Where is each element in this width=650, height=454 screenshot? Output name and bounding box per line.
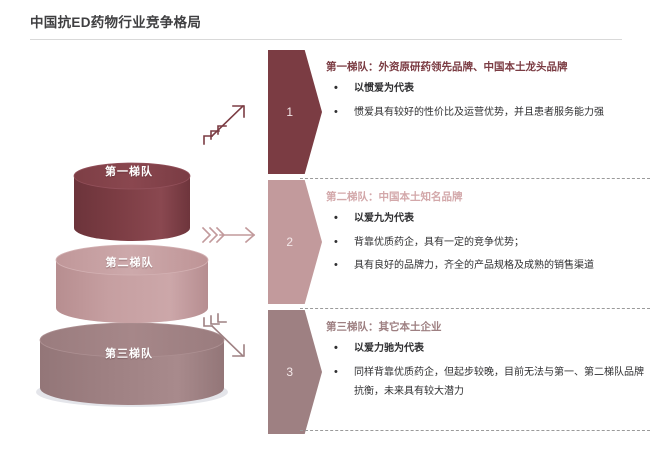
tier-badge-2[interactable]: 2 — [268, 180, 322, 304]
tier-heading-2: 第二梯队：中国本土知名品牌 — [326, 178, 650, 205]
tier-content-3: 第三梯队：其它本土企业 以爱力驰为代表 同样背靠优质药企，但起步较晚，目前无法与… — [326, 308, 650, 402]
slide-canvas: 中国抗ED药物行业竞争格局 — [0, 0, 650, 454]
tier-bullet-item: 以爱九为代表 — [326, 209, 650, 229]
tier-content-2: 第二梯队：中国本土知名品牌 以爱九为代表 背靠优质药企，具有一定的竞争优势； 具… — [326, 178, 650, 276]
tier-bullet-text: 背靠优质药企，具有一定的竞争优势； — [354, 233, 650, 253]
tier-badge-number-1: 1 — [286, 105, 293, 119]
tier-badge-1[interactable]: 1 — [268, 50, 322, 174]
tier-row-2: 2 第二梯队：中国本土知名品牌 以爱九为代表 背靠优质药企，具有一定的竞争优势；… — [268, 178, 650, 308]
tier-bullet-text: 具有良好的品牌力，齐全的产品规格及成熟的销售渠道 — [354, 256, 650, 276]
page-title-container: 中国抗ED药物行业竞争格局 — [30, 14, 620, 32]
tier-bullet-text: 惯爱具有较好的性价比及运营优势，并且患者服务能力强 — [354, 103, 650, 123]
tier-bullet-text: 以爱力驰为代表 — [354, 339, 650, 359]
tier-badge-number-3: 3 — [286, 365, 293, 379]
tier-row-1: 1 第一梯队：外资原研药领先品牌、中国本土龙头品牌 以惯爱为代表 惯爱具有较好的… — [268, 48, 650, 178]
tier-heading-3: 第三梯队：其它本土企业 — [326, 308, 650, 335]
arrow-up-right-icon — [198, 98, 258, 153]
tier-bullet-item: 具有良好的品牌力，齐全的产品规格及成熟的销售渠道 — [326, 256, 650, 276]
title-divider — [30, 39, 622, 40]
tier-row-3: 3 第三梯队：其它本土企业 以爱力驰为代表 同样背靠优质药企，但起步较晚，目前无… — [268, 308, 650, 438]
cake-label-tier-3: 第三梯队 — [44, 345, 214, 361]
tier-bullet-text: 同样背靠优质药企，但起步较晚，目前无法与第一、第二梯队品牌抗衡，未来具有较大潜力 — [354, 363, 650, 402]
cake-layer-3 — [40, 323, 224, 405]
tier-divider-3 — [300, 430, 650, 431]
tier-divider-2 — [300, 308, 650, 309]
cake-label-tier-1: 第一梯队 — [74, 163, 184, 179]
tier-bullet-list-1: 以惯爱为代表 惯爱具有较好的性价比及运营优势，并且患者服务能力强 — [326, 79, 650, 122]
tier-badge-3[interactable]: 3 — [268, 310, 322, 434]
tier-badge-number-2: 2 — [286, 235, 293, 249]
arrow-down-right-icon — [198, 312, 258, 373]
tier-bullet-item: 以爱力驰为代表 — [326, 339, 650, 359]
tier-heading-1: 第一梯队：外资原研药领先品牌、中国本土龙头品牌 — [326, 48, 650, 75]
tier-bullet-list-3: 以爱力驰为代表 同样背靠优质药企，但起步较晚，目前无法与第一、第二梯队品牌抗衡，… — [326, 339, 650, 402]
tier-bullet-item: 同样背靠优质药企，但起步较晚，目前无法与第一、第二梯队品牌抗衡，未来具有较大潜力 — [326, 363, 650, 402]
tier-panel: 1 第一梯队：外资原研药领先品牌、中国本土龙头品牌 以惯爱为代表 惯爱具有较好的… — [268, 48, 650, 440]
tier-bullet-text: 以爱九为代表 — [354, 209, 650, 229]
tier-bullet-item: 惯爱具有较好的性价比及运营优势，并且患者服务能力强 — [326, 103, 650, 123]
tier-divider-1 — [300, 178, 650, 179]
page-title: 中国抗ED药物行业竞争格局 — [30, 14, 620, 32]
tier-bullet-text: 以惯爱为代表 — [354, 79, 650, 99]
cake-label-tier-2: 第二梯队 — [57, 254, 202, 270]
tier-bullet-list-2: 以爱九为代表 背靠优质药企，具有一定的竞争优势； 具有良好的品牌力，齐全的产品规… — [326, 209, 650, 276]
tier-bullet-item: 以惯爱为代表 — [326, 79, 650, 99]
arrow-right-icon — [198, 222, 260, 253]
tier-content-1: 第一梯队：外资原研药领先品牌、中国本土龙头品牌 以惯爱为代表 惯爱具有较好的性价… — [326, 48, 650, 122]
tier-bullet-item: 背靠优质药企，具有一定的竞争优势； — [326, 233, 650, 253]
